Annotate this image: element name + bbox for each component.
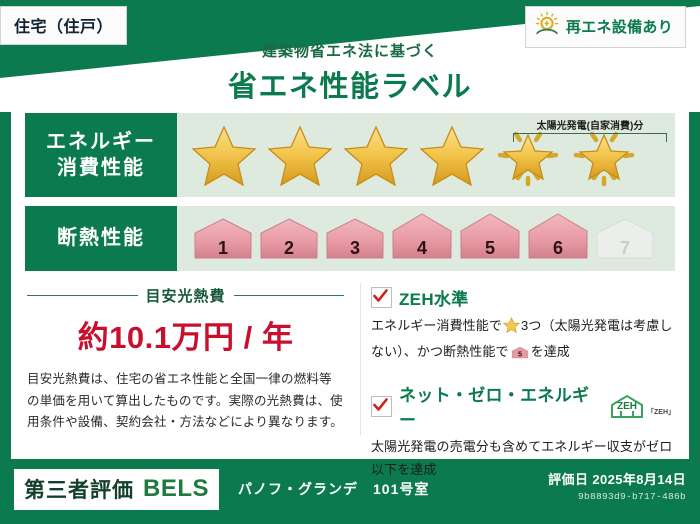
- label-bottom-section: 目安光熱費 約10.1万円 / 年 目安光熱費は、住宅の省エネ性能と全国一律の燃…: [11, 283, 689, 435]
- gold-star-icon: [503, 317, 520, 340]
- solar-sun-icon: [534, 11, 560, 42]
- insulation-level-4-number: 4: [389, 238, 455, 259]
- utility-cost-section: 目安光熱費 約10.1万円 / 年 目安光熱費は、住宅の省エネ性能と全国一律の燃…: [11, 283, 360, 435]
- solar-generation-bracket: 太陽光発電(自家消費)分: [513, 117, 667, 142]
- insulation-level-7-number: 7: [593, 238, 657, 259]
- insulation-level-3: 3: [323, 216, 387, 266]
- evaluation-date-label: 評価日: [548, 472, 588, 487]
- insulation-performance-body: 1 2 3: [177, 206, 675, 271]
- insulation-level-5: 5: [457, 211, 523, 266]
- insulation-level-6-number: 6: [525, 238, 591, 259]
- title-main: 省エネ性能ラベル: [0, 63, 700, 105]
- bels-en-text: BELS: [143, 475, 209, 503]
- energy-performance-row: エネルギー 消費性能: [25, 113, 675, 197]
- insulation-level-1-number: 1: [191, 238, 255, 259]
- insulation-level-5-number: 5: [457, 238, 523, 259]
- insulation-level-3-number: 3: [323, 238, 387, 259]
- solar-bracket-label: 太陽光発電(自家消費)分: [513, 117, 667, 132]
- house-level-5-icon: 5: [511, 344, 529, 367]
- net-zero-energy-header: ネット・ゼロ・エネルギー ZEH 「ZEH」: [371, 381, 675, 431]
- bracket-line: [513, 133, 667, 142]
- star-3: [339, 119, 413, 191]
- energy-label-line2: 消費性能: [57, 155, 145, 181]
- zeh-house-logo: ZEH 「ZEH」: [609, 394, 675, 419]
- energy-performance-label: エネルギー 消費性能: [25, 113, 177, 197]
- checkbox-checked-icon: [371, 396, 392, 417]
- svg-text:5: 5: [518, 349, 522, 358]
- zeh-body-part1: エネルギー消費性能で: [371, 318, 502, 333]
- net-zero-energy-title: ネット・ゼロ・エネルギー: [399, 381, 598, 431]
- star-2: [263, 119, 337, 191]
- insulation-level-2: 2: [257, 216, 321, 266]
- utility-cost-value: 約10.1万円 / 年: [27, 312, 344, 357]
- label-footer: 第三者評価 BELS パノフ・グランデ 101号室 評価日 2025年8月14日…: [0, 459, 700, 524]
- zeh-body-part3: を達成: [531, 344, 570, 359]
- evaluation-date: 評価日 2025年8月14日: [548, 469, 686, 488]
- bels-energy-label: 住宅（住戸） 再エネ設備あり 建築物省エネ法に基づく 省エネ性: [0, 0, 700, 524]
- renewable-equipment-badge: 再エネ設備あり: [525, 6, 686, 48]
- insulation-level-4: 4: [389, 211, 455, 266]
- insulation-performance-row: 断熱性能 1: [25, 206, 675, 271]
- checkbox-checked-icon: [371, 287, 392, 308]
- energy-performance-body: 太陽光発電(自家消費)分: [177, 113, 675, 197]
- star-4: [415, 119, 489, 191]
- insulation-level-scale: 1 2 3: [177, 206, 657, 271]
- heading-rule-right: [234, 295, 345, 296]
- utility-cost-heading: 目安光熱費: [27, 285, 344, 306]
- star-1: [187, 119, 261, 191]
- zeh-standard-body: エネルギー消費性能で3つ（太陽光発電は考慮しない）、かつ断熱性能で5を達成: [371, 314, 675, 367]
- utility-cost-note: 目安光熱費は、住宅の省エネ性能と全国一律の燃料等の単価を用いて算出したものです。…: [27, 369, 344, 434]
- utility-cost-heading-text: 目安光熱費: [146, 285, 226, 306]
- zeh-standard-title: ZEH水準: [399, 285, 469, 310]
- insulation-level-1: 1: [191, 216, 255, 266]
- evaluation-id: 9b8893d9-b717-486b: [548, 491, 686, 502]
- energy-label-line1: エネルギー: [46, 129, 156, 155]
- bels-jp-text: 第三者評価: [24, 474, 134, 504]
- evaluation-date-value: 2025年8月14日: [592, 472, 686, 487]
- bels-certification-mark: 第三者評価 BELS: [14, 469, 219, 510]
- insulation-label-text: 断熱性能: [57, 225, 145, 251]
- svg-text:ZEH: ZEH: [617, 401, 637, 412]
- building-name: パノフ・グランデ 101号室: [238, 479, 429, 499]
- insulation-level-2-number: 2: [257, 238, 321, 259]
- housing-type-tag: 住宅（住戸）: [0, 6, 127, 45]
- label-title: 建築物省エネ法に基づく 省エネ性能ラベル: [0, 40, 700, 105]
- zeh-standard-header: ZEH水準: [371, 285, 675, 310]
- zeh-criteria-section: ZEH水準 エネルギー消費性能で3つ（太陽光発電は考慮しない）、かつ断熱性能で5…: [360, 283, 689, 435]
- renewable-badge-label: 再エネ設備あり: [566, 16, 673, 37]
- insulation-level-6: 6: [525, 211, 591, 266]
- evaluation-info: 評価日 2025年8月14日 9b8893d9-b717-486b: [548, 469, 686, 502]
- zeh-logo-caption: 「ZEH」: [647, 407, 675, 419]
- label-card: エネルギー 消費性能: [11, 104, 689, 459]
- heading-rule-left: [27, 295, 138, 296]
- insulation-performance-label: 断熱性能: [25, 206, 177, 271]
- zeh-standard-item: ZEH水準 エネルギー消費性能で3つ（太陽光発電は考慮しない）、かつ断熱性能で5…: [371, 285, 675, 367]
- insulation-level-7: 7: [593, 216, 657, 266]
